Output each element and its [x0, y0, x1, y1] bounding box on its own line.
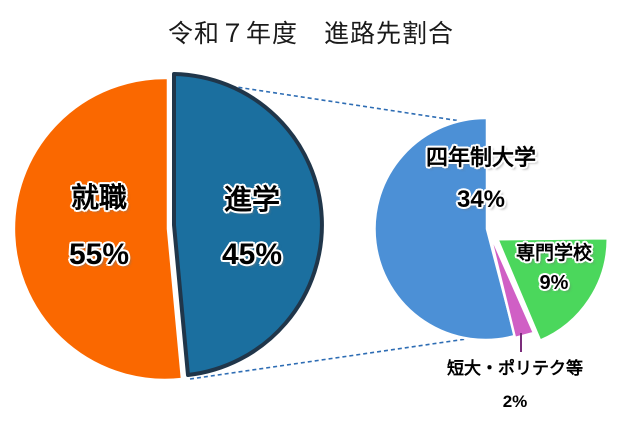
- chart-page: 令和７年度 進路先割合 就職 55% 進学 45% 四年制大学: [0, 0, 622, 429]
- label-shingaku-value: 45%: [196, 238, 308, 272]
- label-shuushoku-name: 就職: [36, 176, 162, 216]
- primary-pie: [14, 74, 322, 380]
- pie-slice-shuushoku[interactable]: [14, 78, 182, 380]
- label-shuushoku-value: 55%: [36, 238, 162, 272]
- pie-slice-shingaku[interactable]: [174, 74, 322, 375]
- label-shingaku-name: 進学: [196, 178, 308, 218]
- label-university-value: 34%: [395, 186, 567, 214]
- label-tandai-value: 2%: [420, 392, 610, 412]
- label-senmon-name: 専門学校: [498, 238, 610, 265]
- label-senmon-value: 9%: [498, 272, 610, 295]
- label-tandai-name: 短大・ポリテク等: [420, 354, 610, 379]
- label-university-name: 四年制大学: [395, 140, 567, 172]
